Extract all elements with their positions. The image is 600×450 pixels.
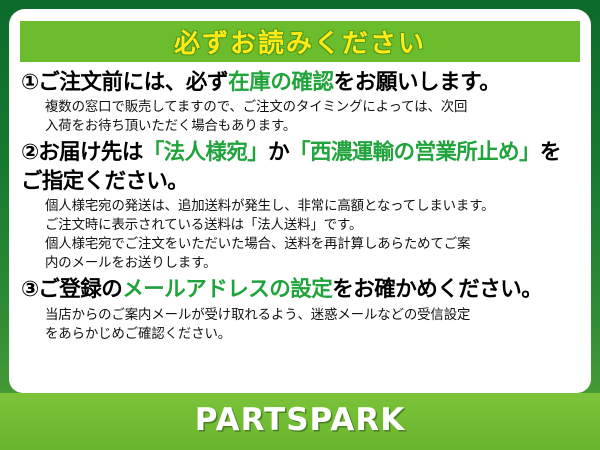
notice-item-3-subtext: 当店からのご案内メールが受け取れるよう、迷惑メールなどの受信設定 をあらかじめご… bbox=[45, 306, 579, 344]
notice-item-3-part-1: ご登録の bbox=[38, 277, 122, 302]
notice-banner: 必ずお読みください ①ご注文前には、必ず在庫の確認をお願いします。 複数の窓口で… bbox=[0, 0, 600, 450]
notice-item-2-subtext-line-4: 内のメールをお送りします。 bbox=[45, 254, 579, 273]
notice-item-2-marker: ② bbox=[21, 140, 38, 165]
notice-panel: 必ずお読みください ①ご注文前には、必ず在庫の確認をお願いします。 複数の窓口で… bbox=[9, 9, 591, 393]
notice-item-1-subtext-line-2: 入荷をお待ち頂いただく場合もあります。 bbox=[45, 117, 579, 136]
notice-item-1: ①ご注文前には、必ず在庫の確認をお願いします。 複数の窓口で販売してますので、ご… bbox=[21, 69, 579, 136]
notice-item-1-subtext: 複数の窓口で販売してますので、ご注文のタイミングによっては、次回 入荷をお待ち頂… bbox=[45, 98, 579, 136]
notice-item-1-accent: 在庫の確認 bbox=[228, 70, 334, 95]
notice-item-3: ③ご登録のメールアドレスの設定をお確かめください。 当店からのご案内メールが受け… bbox=[21, 276, 579, 343]
notice-item-3-headline: ③ご登録のメールアドレスの設定をお確かめください。 bbox=[21, 276, 579, 304]
brand-footer-band: PARTSPARK bbox=[0, 393, 600, 450]
notice-item-2-subtext-line-2: ご注文時に表示されている送料は「法人送料」です。 bbox=[45, 216, 579, 235]
page-title: 必ずお読みください bbox=[174, 23, 426, 60]
notice-item-3-part-3: をお確かめください。 bbox=[332, 277, 542, 302]
notice-item-3-subtext-line-1: 当店からのご案内メールが受け取れるよう、迷惑メールなどの受信設定 bbox=[45, 306, 579, 325]
notice-item-1-marker: ① bbox=[21, 70, 38, 95]
notice-item-3-accent: メールアドレスの設定 bbox=[122, 277, 332, 302]
notice-item-3-marker: ③ bbox=[21, 277, 38, 302]
notice-item-2: ②お届け先は「法人様宛」か「西濃運輸の営業所止め」をご指定ください。 個人様宅宛… bbox=[21, 139, 579, 273]
notice-item-1-part-3: をお願いします。 bbox=[334, 70, 501, 95]
notice-item-1-headline: ①ご注文前には、必ず在庫の確認をお願いします。 bbox=[21, 69, 579, 97]
notice-item-2-subtext: 個人様宅宛の発送は、追加送料が発生し、非常に高額となってしまいます。 ご注文時に… bbox=[45, 197, 579, 273]
notice-item-3-subtext-line-2: をあらかじめご確認ください。 bbox=[45, 325, 579, 344]
notice-item-1-part-1: ご注文前には、必ず bbox=[38, 70, 228, 95]
notice-title-bar: 必ずお読みください bbox=[20, 21, 580, 62]
brand-logo-text: PARTSPARK bbox=[0, 402, 600, 438]
notice-item-2-headline: ②お届け先は「法人様宛」か「西濃運輸の営業所止め」をご指定ください。 bbox=[21, 139, 579, 196]
notice-item-2-part-3: か bbox=[268, 140, 289, 165]
notice-item-2-subtext-line-3: 個人様宅宛でご注文をいただいた場合、送料を再計算しあらためてご案 bbox=[45, 235, 579, 254]
notice-item-2-accent-2: 「西濃運輸の営業所止め」 bbox=[289, 140, 540, 165]
notice-item-2-accent-1: 「法人様宛」 bbox=[143, 140, 268, 165]
notice-item-2-part-1: お届け先は bbox=[38, 140, 143, 165]
notice-item-2-subtext-line-1: 個人様宅宛の発送は、追加送料が発生し、非常に高額となってしまいます。 bbox=[45, 197, 579, 216]
notice-content: ①ご注文前には、必ず在庫の確認をお願いします。 複数の窓口で販売してますので、ご… bbox=[9, 62, 591, 344]
notice-item-1-subtext-line-1: 複数の窓口で販売してますので、ご注文のタイミングによっては、次回 bbox=[45, 98, 579, 117]
